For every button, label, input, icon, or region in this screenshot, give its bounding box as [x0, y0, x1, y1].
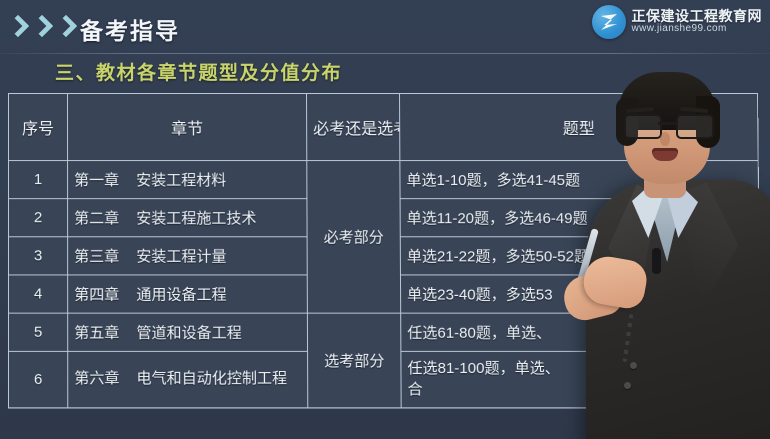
- cell-chapter-no: 第一章: [74, 169, 136, 190]
- cell-chapter: 第三章安装工程计量: [68, 237, 308, 275]
- table-row: 1 第一章安装工程材料 必考部分 单选1-10题，多选41-45题: [9, 161, 759, 199]
- col-header-no: 序号: [9, 93, 68, 160]
- cell-type: 单选23-40题，多选53: [400, 275, 759, 313]
- cell-type: 单选1-10题，多选41-45题: [400, 161, 759, 199]
- cell-type: 单选21-22题，多选50-52题: [400, 237, 759, 275]
- cell-chapter-name: 安装工程材料: [136, 172, 226, 189]
- section-subtitle: 三、教材各章节题型及分值分布: [55, 58, 342, 85]
- brand-logo: 正保建设工程教育网 www.jianshe99.com: [592, 5, 763, 39]
- cell-chapter-no: 第四章: [74, 283, 136, 304]
- col-header-chapter: 章节: [68, 93, 307, 160]
- table-header-row: 序号 章节 必考还是选考 题型: [9, 93, 759, 160]
- cell-no: 6: [9, 351, 68, 407]
- header-divider: [0, 53, 770, 54]
- cell-chapter: 第六章电气和自动化控制工程: [68, 351, 308, 407]
- slide-canvas: 备考指导 正保建设工程教育网 www.jianshe99.com 三、教材各章节…: [0, 0, 770, 439]
- cell-chapter-name: 安装工程计量: [136, 248, 226, 265]
- cell-type: 单选11-20题，多选46-49题: [400, 199, 759, 237]
- page-title: 备考指导: [80, 12, 180, 46]
- chevron-right-icon: [8, 15, 78, 41]
- cell-type-line2: 合: [408, 381, 423, 398]
- cell-chapter: 第二章安装工程施工技术: [68, 199, 307, 237]
- chapter-question-table-wrapper: 序号 章节 必考还是选考 题型 1 第一章安装工程材料 必考部分 单选1-10题…: [8, 93, 710, 401]
- cell-chapter-no: 第五章: [74, 322, 136, 343]
- table-row: 5 第五章管道和设备工程 选考部分 任选61-80题，单选、: [9, 313, 761, 351]
- cell-chapter-name: 通用设备工程: [136, 286, 226, 303]
- cell-type: 任选61-80题，单选、: [401, 313, 760, 351]
- cell-chapter-name: 安装工程施工技术: [136, 210, 256, 227]
- cell-type-line1: 任选81-100题，单选、: [407, 360, 559, 377]
- brand-name: 正保建设工程教育网: [632, 9, 763, 24]
- cell-no: 3: [9, 237, 68, 275]
- cell-chapter-name: 管道和设备工程: [136, 325, 241, 342]
- header-bar: 备考指导 正保建设工程教育网 www.jianshe99.com: [0, 0, 770, 54]
- cell-no: 1: [9, 161, 68, 199]
- cell-chapter-no: 第二章: [74, 207, 136, 228]
- cell-part-required: 必考部分: [307, 161, 401, 314]
- cell-chapter-name: 电气和自动化控制工程: [136, 370, 287, 387]
- chapter-question-table: 序号 章节 必考还是选考 题型 1 第一章安装工程材料 必考部分 单选1-10题…: [8, 93, 761, 408]
- cell-chapter: 第五章管道和设备工程: [68, 313, 308, 351]
- col-header-type: 题型: [400, 93, 759, 160]
- cell-chapter: 第四章通用设备工程: [68, 275, 308, 313]
- cell-chapter-no: 第六章: [74, 369, 136, 389]
- cell-chapter-no: 第三章: [74, 245, 136, 266]
- cell-no: 2: [9, 199, 68, 237]
- col-header-part: 必考还是选考: [307, 93, 400, 160]
- brand-z-logo-icon: [592, 5, 626, 39]
- cell-no: 4: [9, 275, 68, 313]
- cell-no: 5: [9, 313, 68, 351]
- cell-chapter: 第一章安装工程材料: [68, 161, 307, 199]
- cell-type: 任选81-100题，单选、 合: [401, 351, 761, 407]
- cell-part-optional: 选考部分: [307, 313, 401, 408]
- brand-url: www.jianshe99.com: [632, 24, 763, 35]
